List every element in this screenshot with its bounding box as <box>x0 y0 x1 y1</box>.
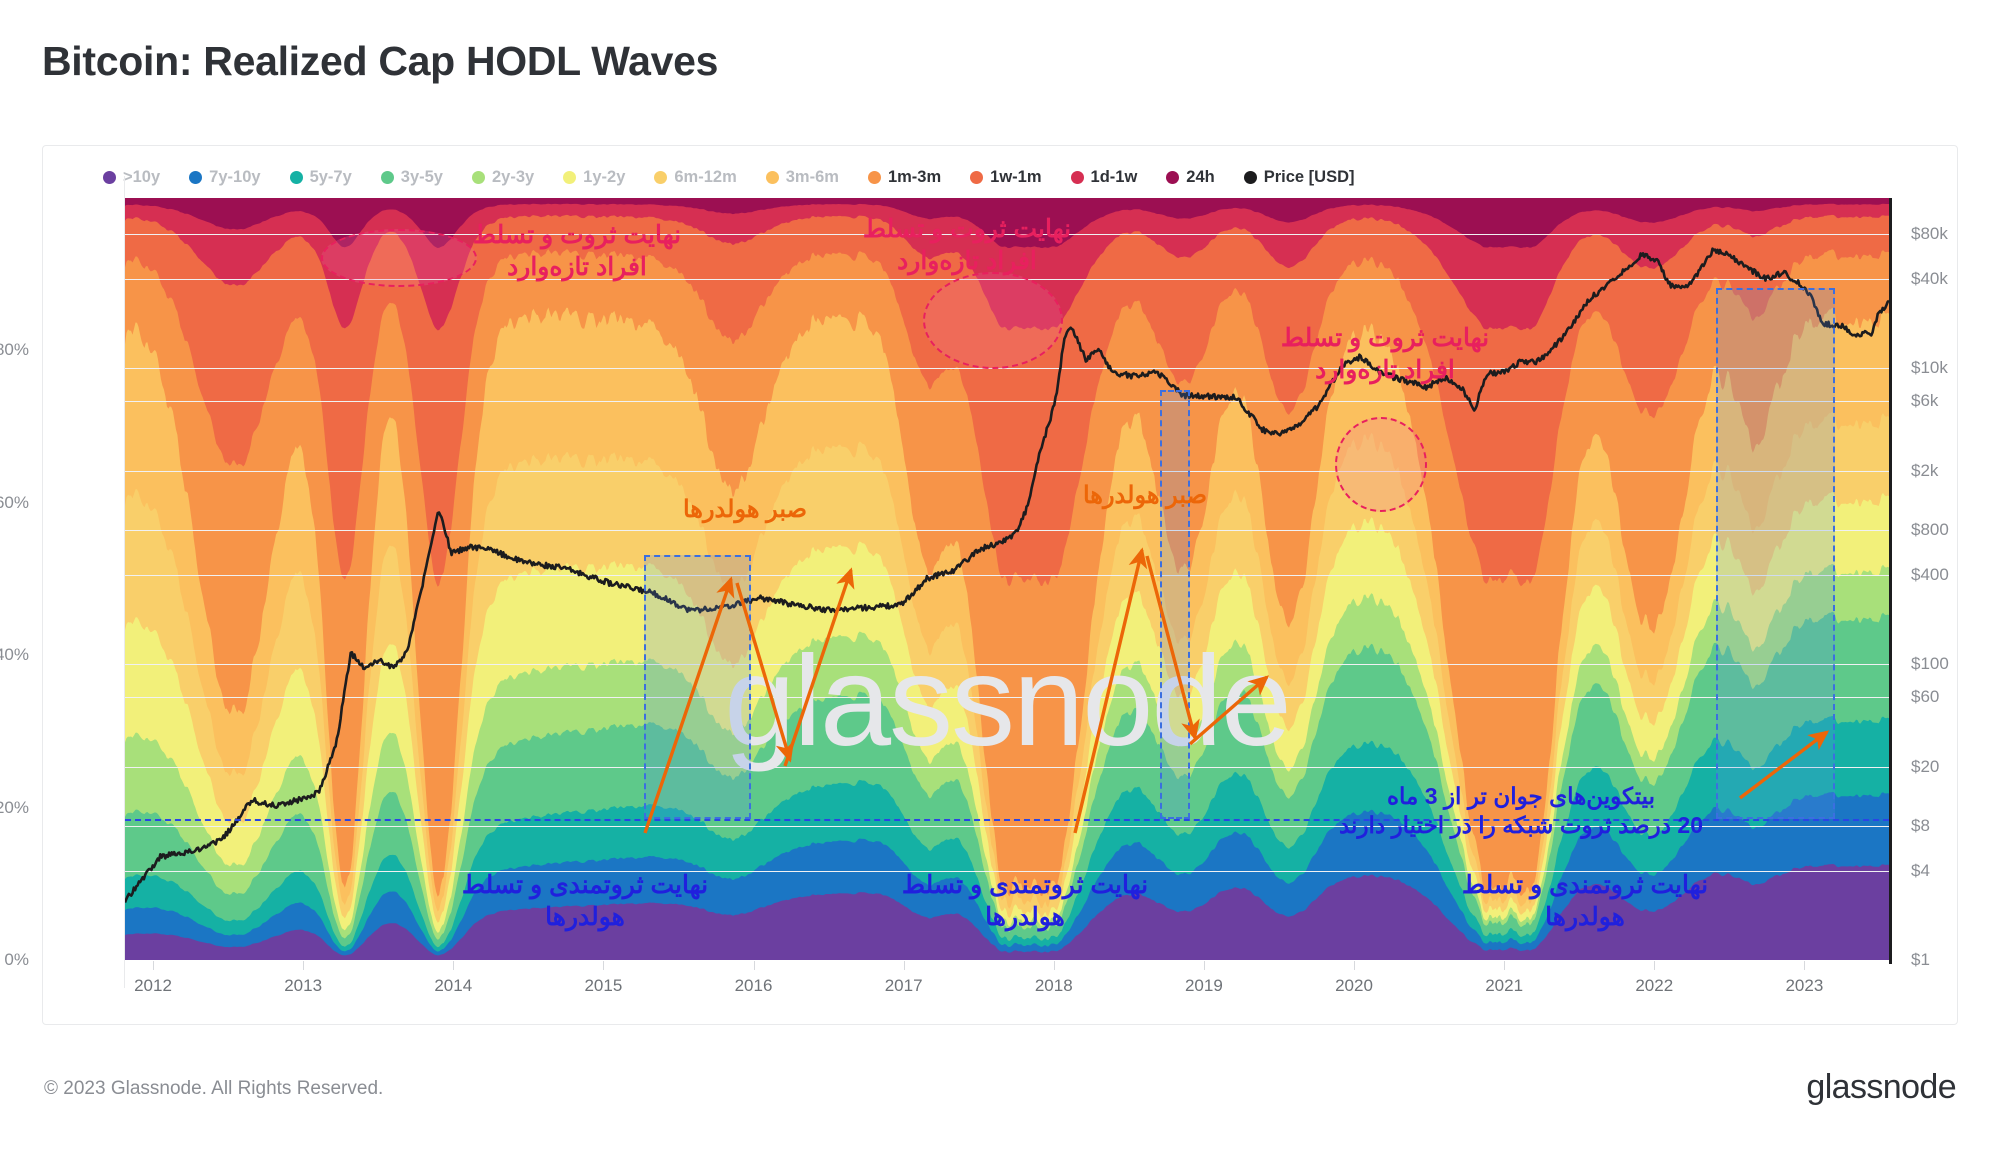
y-tick-label-left: 40% <box>0 645 29 665</box>
legend-swatch-icon <box>472 171 485 184</box>
legend-swatch-icon <box>1166 171 1179 184</box>
y-tick-label-left: 0% <box>4 950 29 970</box>
y-tick-label-right: $1 <box>1911 950 1930 970</box>
legend-label: 2y-3y <box>492 168 534 187</box>
y-tick-label-left: 20% <box>0 798 29 818</box>
chart-card: >10y7y-10y5y-7y3y-5y2y-3y1y-2y6m-12m3m-6… <box>42 145 1958 1025</box>
plot-area: glassnode <box>125 198 1889 960</box>
y-tick-label-right: $10k <box>1911 358 1948 378</box>
legend-item-10y[interactable]: >10y <box>103 168 160 187</box>
legend-label: 5y-7y <box>310 168 352 187</box>
x-tick-label: 2021 <box>1485 976 1523 996</box>
x-tick-label: 2015 <box>584 976 622 996</box>
y-tick-label-right: $400 <box>1911 565 1949 585</box>
x-tick-label: 2012 <box>134 976 172 996</box>
x-tick-mark <box>754 961 755 970</box>
y-tick-label-left: 60% <box>0 493 29 513</box>
legend-swatch-icon <box>189 171 202 184</box>
legend-label: 7y-10y <box>209 168 260 187</box>
legend-label: Price [USD] <box>1264 168 1355 187</box>
x-tick-mark <box>303 961 304 970</box>
x-tick-mark <box>1654 961 1655 970</box>
y-tick-label-right: $2k <box>1911 461 1938 481</box>
legend-swatch-icon <box>290 171 303 184</box>
y-tick-label-right: $20 <box>1911 757 1939 777</box>
legend-item-1w-1m[interactable]: 1w-1m <box>970 168 1041 187</box>
legend-swatch-icon <box>868 171 881 184</box>
legend-item-1d-1w[interactable]: 1d-1w <box>1071 168 1138 187</box>
legend-label: 3m-6m <box>786 168 839 187</box>
x-tick-mark <box>153 961 154 970</box>
y-tick-label-right: $40k <box>1911 269 1948 289</box>
legend-item-price-usd[interactable]: Price [USD] <box>1244 168 1355 187</box>
x-tick-mark <box>1504 961 1505 970</box>
legend-label: 1d-1w <box>1091 168 1138 187</box>
legend-swatch-icon <box>970 171 983 184</box>
x-tick-mark <box>1354 961 1355 970</box>
price-line-path <box>125 249 1889 903</box>
y-tick-label-left: 80% <box>0 340 29 360</box>
legend-swatch-icon <box>103 171 116 184</box>
y-tick-label-right: $6k <box>1911 391 1938 411</box>
x-tick-mark <box>603 961 604 970</box>
x-tick-mark <box>1054 961 1055 970</box>
price-line <box>125 198 1889 960</box>
y-tick-label-right: $800 <box>1911 520 1949 540</box>
x-tick-label: 2023 <box>1785 976 1823 996</box>
x-tick-mark <box>1804 961 1805 970</box>
y-axis-line-right <box>1889 198 1892 964</box>
legend-item-2y-3y[interactable]: 2y-3y <box>472 168 534 187</box>
legend-label: 3y-5y <box>401 168 443 187</box>
legend-swatch-icon <box>1244 171 1257 184</box>
legend-swatch-icon <box>766 171 779 184</box>
legend-swatch-icon <box>563 171 576 184</box>
x-tick-label: 2017 <box>885 976 923 996</box>
x-tick-label: 2022 <box>1635 976 1673 996</box>
x-tick-mark <box>904 961 905 970</box>
x-tick-mark <box>453 961 454 970</box>
x-tick-label: 2020 <box>1335 976 1373 996</box>
x-tick-label: 2018 <box>1035 976 1073 996</box>
legend-item-1y-2y[interactable]: 1y-2y <box>563 168 625 187</box>
legend-label: 6m-12m <box>674 168 736 187</box>
y-tick-label-right: $80k <box>1911 224 1948 244</box>
chart-page: Bitcoin: Realized Cap HODL Waves >10y7y-… <box>0 0 2000 1152</box>
plot-inner: glassnode <box>125 198 1889 960</box>
legend-label: >10y <box>123 168 160 187</box>
footer-logo: glassnode <box>1806 1068 1956 1107</box>
legend-item-6m-12m[interactable]: 6m-12m <box>654 168 736 187</box>
legend-item-3y-5y[interactable]: 3y-5y <box>381 168 443 187</box>
legend-label: 1w-1m <box>990 168 1041 187</box>
chart-legend[interactable]: >10y7y-10y5y-7y3y-5y2y-3y1y-2y6m-12m3m-6… <box>103 164 1384 190</box>
legend-item-1m-3m[interactable]: 1m-3m <box>868 168 941 187</box>
legend-swatch-icon <box>381 171 394 184</box>
y-tick-label-right: $100 <box>1911 654 1949 674</box>
legend-label: 24h <box>1186 168 1214 187</box>
x-tick-mark <box>1204 961 1205 970</box>
page-title: Bitcoin: Realized Cap HODL Waves <box>42 38 718 85</box>
legend-label: 1m-3m <box>888 168 941 187</box>
legend-swatch-icon <box>654 171 667 184</box>
x-tick-label: 2014 <box>434 976 472 996</box>
x-tick-label: 2016 <box>735 976 773 996</box>
y-tick-label-right: $8 <box>1911 816 1930 836</box>
footer-copyright: © 2023 Glassnode. All Rights Reserved. <box>44 1078 383 1100</box>
x-tick-label: 2019 <box>1185 976 1223 996</box>
x-tick-label: 2013 <box>284 976 322 996</box>
legend-swatch-icon <box>1071 171 1084 184</box>
legend-item-5y-7y[interactable]: 5y-7y <box>290 168 352 187</box>
y-tick-label-right: $60 <box>1911 687 1939 707</box>
legend-label: 1y-2y <box>583 168 625 187</box>
y-tick-label-right: $4 <box>1911 861 1930 881</box>
legend-item-7y-10y[interactable]: 7y-10y <box>189 168 260 187</box>
legend-item-3m-6m[interactable]: 3m-6m <box>766 168 839 187</box>
legend-item-24h[interactable]: 24h <box>1166 168 1214 187</box>
